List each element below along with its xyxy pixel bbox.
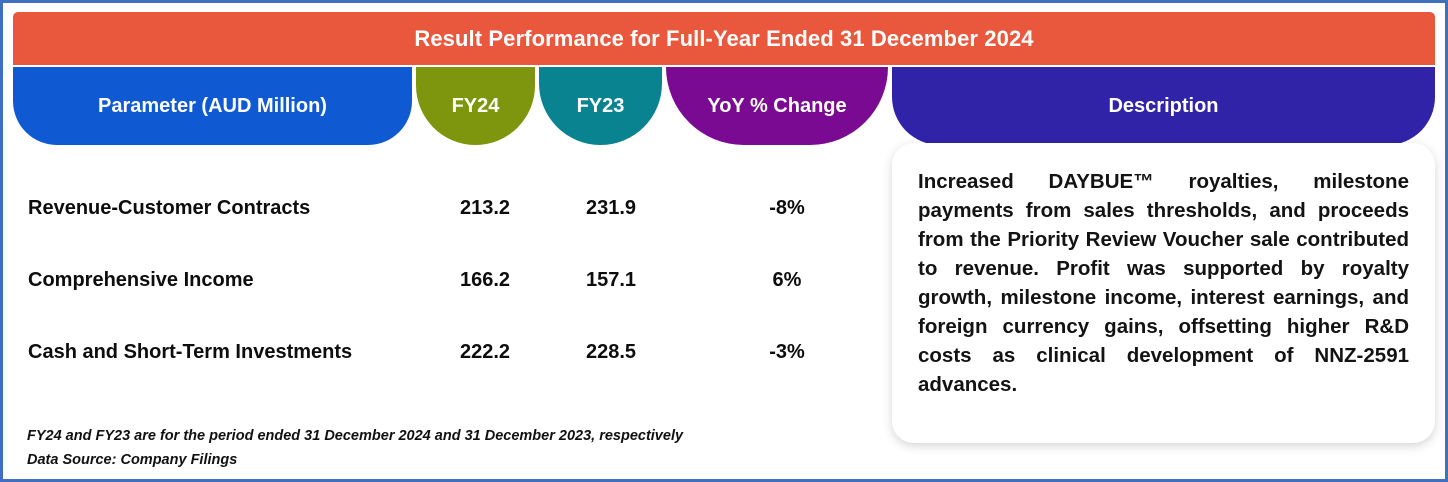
footnotes: FY24 and FY23 are for the period ended 3… [27, 424, 867, 472]
cell-fy23: 231.9 [550, 197, 672, 220]
table-row: Cash and Short-Term Investments 222.2 22… [13, 329, 888, 375]
column-header-fy24-label: FY24 [452, 95, 500, 118]
title-banner: Result Performance for Full-Year Ended 3… [13, 12, 1435, 65]
cell-yoy-change: -3% [676, 341, 898, 364]
column-header-fy23-label: FY23 [577, 95, 625, 118]
footnote-data-source: Data Source: Company Filings [27, 448, 867, 472]
column-header-fy23: FY23 [539, 67, 662, 145]
cell-parameter: Revenue-Customer Contracts [28, 197, 428, 220]
cell-fy23: 157.1 [550, 269, 672, 292]
cell-fy24: 166.2 [423, 269, 547, 292]
column-header-yoy-change-label: YoY % Change [707, 95, 846, 118]
page-title: Result Performance for Full-Year Ended 3… [414, 26, 1033, 52]
cell-parameter: Cash and Short-Term Investments [28, 341, 428, 364]
cell-parameter: Comprehensive Income [28, 269, 428, 292]
table-row: Revenue-Customer Contracts 213.2 231.9 -… [13, 185, 888, 231]
column-header-description: Description [892, 67, 1435, 145]
report-card-body: Result Performance for Full-Year Ended 3… [3, 3, 1445, 479]
description-card: Increased DAYBUE™ royalties, milestone p… [892, 143, 1435, 443]
column-header-fy24: FY24 [416, 67, 535, 145]
cell-yoy-change: 6% [676, 269, 898, 292]
column-header-description-label: Description [1108, 95, 1218, 118]
cell-fy24: 213.2 [423, 197, 547, 220]
cell-fy23: 228.5 [550, 341, 672, 364]
column-header-parameter-label: Parameter (AUD Million) [98, 95, 327, 118]
metrics-table: Revenue-Customer Contracts 213.2 231.9 -… [13, 153, 888, 413]
column-header-yoy-change: YoY % Change [666, 67, 888, 145]
column-header-parameter: Parameter (AUD Million) [13, 67, 412, 145]
cell-yoy-change: -8% [676, 197, 898, 220]
report-card-frame: Result Performance for Full-Year Ended 3… [0, 0, 1448, 482]
cell-fy24: 222.2 [423, 341, 547, 364]
description-text: Increased DAYBUE™ royalties, milestone p… [918, 167, 1409, 399]
table-row: Comprehensive Income 166.2 157.1 6% [13, 257, 888, 303]
footnote-period: FY24 and FY23 are for the period ended 3… [27, 424, 867, 448]
